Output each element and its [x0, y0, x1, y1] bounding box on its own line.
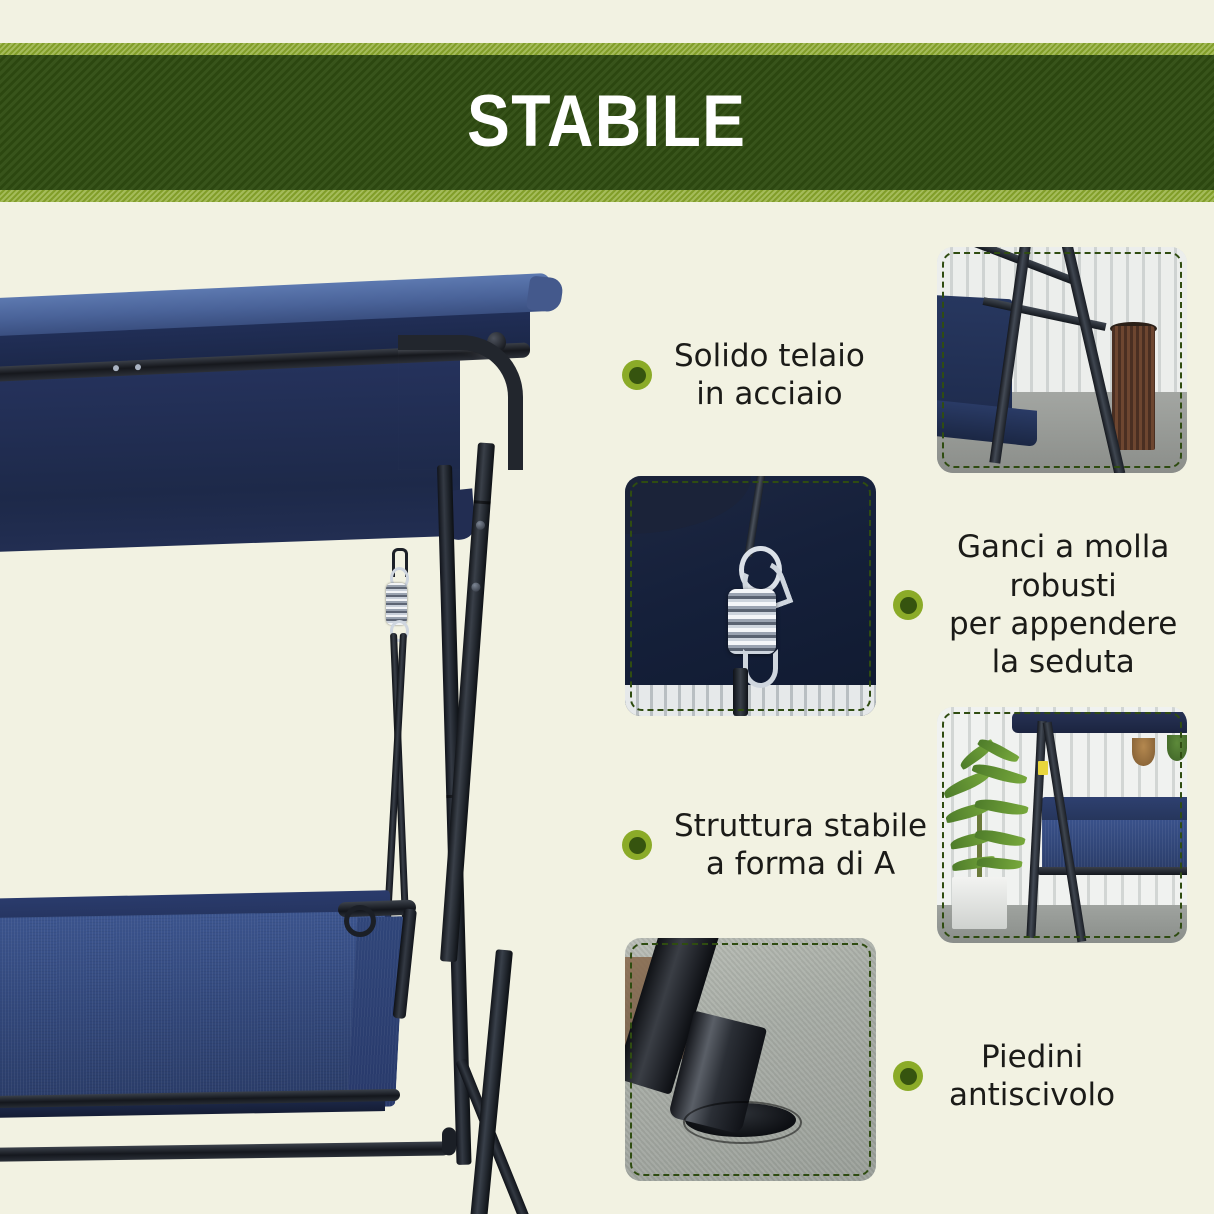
- canopy-rod-screw: [113, 365, 119, 371]
- photo-content: [625, 938, 876, 1181]
- seat-textilene-fabric: [0, 911, 385, 1109]
- frame-top-curve: [398, 335, 523, 470]
- hero-product-photo: [0, 215, 600, 1214]
- banner-stripe-bottom: [0, 190, 1214, 202]
- infographic-page: STABILE: [0, 0, 1214, 1214]
- warning-tag: [1038, 761, 1048, 775]
- bullet-dot-icon: [622, 830, 652, 860]
- header-banner: STABILE: [0, 43, 1214, 202]
- bullet-dot-icon: [893, 1061, 923, 1091]
- spring-coil: [728, 589, 776, 654]
- feature-label: Piedini antiscivolo: [949, 1038, 1115, 1115]
- canopy-rod-screw: [135, 364, 141, 370]
- photo-content: [937, 707, 1187, 943]
- photo-content: [625, 476, 876, 716]
- feature-label: Struttura stabile a forma di A: [674, 807, 927, 884]
- feature-ganci-molla: Ganci a molla robusti per appendere la s…: [893, 540, 1208, 670]
- feature-label: Ganci a molla robusti per appendere la s…: [949, 528, 1177, 682]
- spring-hook-lower: [743, 649, 778, 688]
- banner-body: STABILE: [0, 55, 1214, 190]
- armrest-loop: [344, 905, 376, 937]
- foot-outline: [683, 1101, 802, 1144]
- feature-solido-telaio: Solido telaio in acciaio: [622, 330, 922, 420]
- feature-piedini: Piedini antiscivolo: [893, 1030, 1208, 1122]
- canopy-rear-panel: [0, 358, 460, 555]
- feature-photo-ganci-molla: [625, 476, 876, 716]
- feature-photo-struttura-a: [937, 707, 1187, 943]
- feature-label: Solido telaio in acciaio: [674, 337, 865, 414]
- white-planter: [952, 877, 1007, 929]
- page-title: STABILE: [467, 85, 746, 158]
- bullet-dot-icon: [622, 360, 652, 390]
- hanging-basket: [1132, 738, 1155, 766]
- swing-seat-bar: [1037, 867, 1187, 874]
- wicker-planter: [1112, 326, 1155, 450]
- feature-photo-piedini: [625, 938, 876, 1181]
- feature-photo-solido-telaio: [937, 247, 1187, 473]
- seat-clip: [733, 668, 748, 716]
- spring-coil: [386, 583, 407, 625]
- feature-struttura-a: Struttura stabile a forma di A: [622, 800, 932, 890]
- photo-content: [937, 247, 1187, 473]
- banner-stripe-top: [0, 43, 1214, 55]
- bullet-dot-icon: [893, 590, 923, 620]
